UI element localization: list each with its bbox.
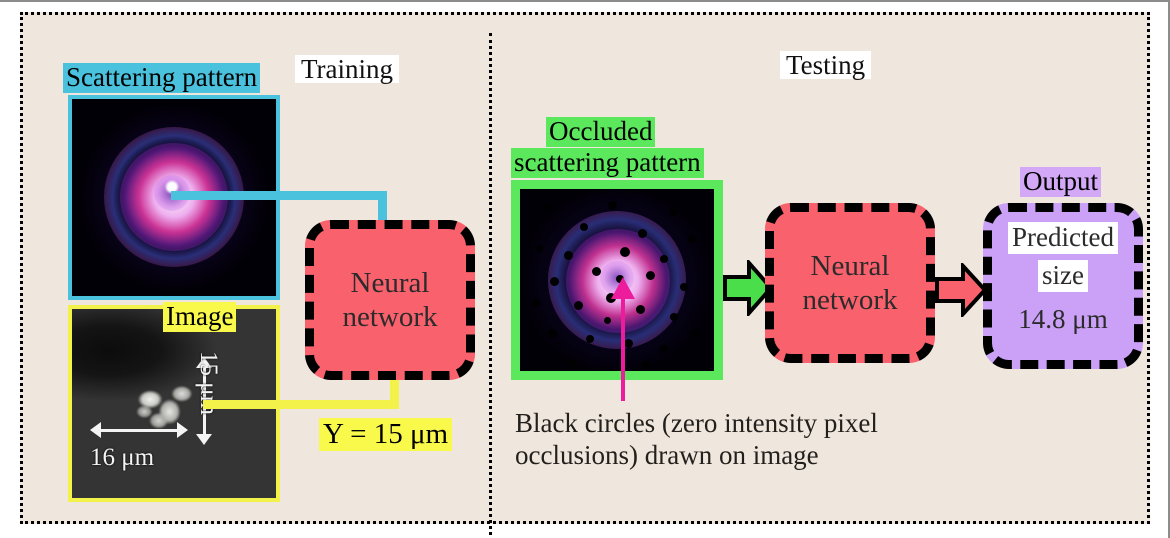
neural-network-box-training: Neural network [305,220,475,380]
occlusion-dot [670,313,678,321]
section-title-testing: Testing [780,51,871,79]
occlusion-dot [660,345,668,353]
training-target-label: Y = 15 μm [319,418,452,451]
neural-network-label-training: Neural network [342,266,437,334]
occlusion-dot [636,305,645,314]
occlusion-dot [642,361,650,369]
sem-image-label: Image [163,302,236,332]
occlusion-dot [660,255,668,263]
predicted-size-value: 14.8 μm [1018,304,1107,336]
occlusion-dot [580,223,588,231]
occlusion-dot [564,251,573,260]
predicted-size-label-line1: Predicted [1008,222,1118,254]
neural-network-label-testing: Neural network [802,249,897,317]
occlusion-dot [670,209,677,216]
width-dimension-arrow [100,429,178,432]
occlusion-caption: Black circles (zero intensity pixel occl… [515,407,945,472]
occlusion-dot [688,235,696,243]
neural-network-box-testing: Neural network [765,203,935,363]
section-title-training: Training [295,55,399,83]
predicted-size-label-line2: size [1038,260,1088,292]
occluded-pattern-label-line1: Occluded [546,117,655,147]
target-to-network-line [203,400,399,409]
occlusion-dot [592,267,601,276]
occlusion-dot [624,339,633,348]
occlusion-dot [604,317,611,324]
occluded-pattern-label-line2: scattering pattern [511,148,704,178]
occlusion-dot [544,203,552,211]
occlusion-dot [574,301,583,310]
figure-panel: Training Testing Scattering pattern Imag… [20,12,1150,524]
output-box: Predicted size 14.8 μm [983,203,1143,369]
occlusion-dot [680,283,688,291]
figure-canvas: Training Testing Scattering pattern Imag… [0,0,1170,538]
output-label: Output [1020,167,1101,197]
occlusion-dot [620,247,630,257]
occlusion-dot [550,277,559,286]
section-divider [489,33,492,535]
occlusion-pointer-line [621,295,625,401]
width-dimension-label: 16 μm [90,444,154,472]
scattering-pattern-label: Scattering pattern [63,63,260,93]
occlusion-dot [586,335,594,343]
occlusion-pointer-arrowhead [611,277,635,299]
occlusion-dot [646,271,655,280]
occlusion-dot [638,229,647,238]
occlusion-dot [608,201,617,210]
network-to-output-arrow [935,263,987,317]
occlusion-dot [692,329,699,336]
occlusion-dot [548,329,557,338]
occlusion-dot [532,299,540,307]
occlusion-dot [568,359,576,367]
scattering-to-network-line [171,191,387,200]
occlusion-dot [536,245,543,252]
sem-particle [130,377,202,433]
